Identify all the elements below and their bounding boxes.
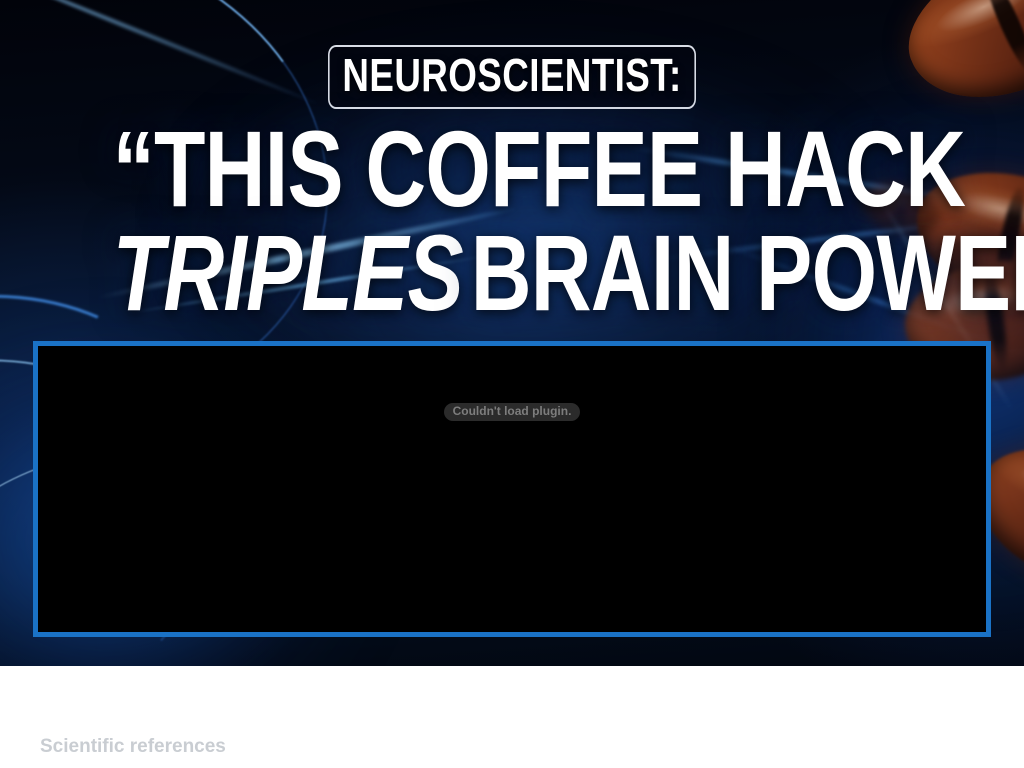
hero-title-block: NEUROSCIENTIST: “THIS COFFEE HACK TRIPLE… <box>0 0 1024 325</box>
video-player[interactable]: Couldn't load plugin. <box>33 341 991 637</box>
scientific-references-heading: Scientific references <box>40 736 226 758</box>
headline-line-1: “THIS COFFEE HACK <box>113 117 912 221</box>
page-title: “THIS COFFEE HACK TRIPLESBRAIN POWER” <box>0 117 1024 325</box>
headline-line-2-rest: BRAIN POWER” <box>471 212 1024 333</box>
plugin-error-message: Couldn't load plugin. <box>444 403 581 421</box>
kicker-badge: NEUROSCIENTIST: <box>328 45 696 109</box>
below-fold-section: Scientific references <box>0 666 1024 768</box>
hero-section: NEUROSCIENTIST: “THIS COFFEE HACK TRIPLE… <box>0 0 1024 666</box>
headline-line-2: TRIPLESBRAIN POWER” <box>113 221 912 325</box>
headline-emphasis: TRIPLES <box>113 212 471 333</box>
